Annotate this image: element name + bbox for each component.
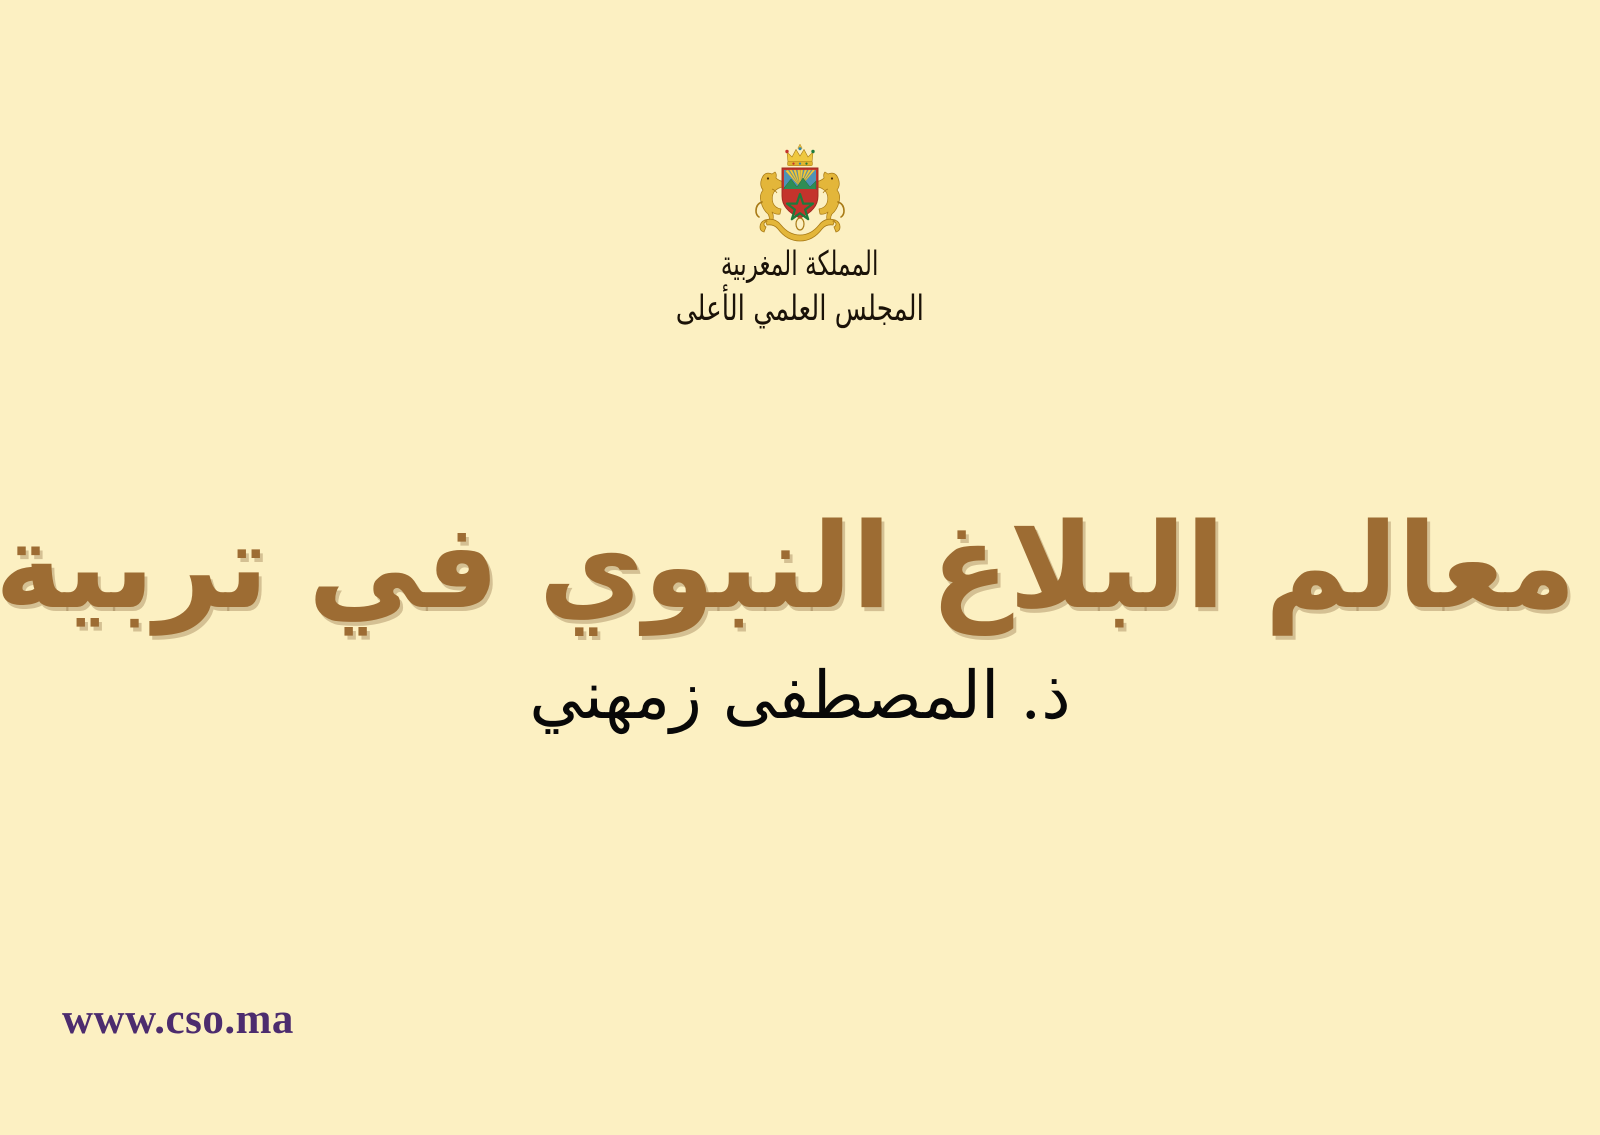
moroccan-coat-of-arms-icon	[741, 140, 859, 245]
page-title: معالم البلاغ النبوي في تربية الشباب	[24, 493, 1576, 641]
website-url[interactable]: www.cso.ma	[62, 998, 294, 1041]
cover-page: { "page": { "background_color": "#FCF0C2…	[0, 0, 1600, 1135]
crown-icon	[785, 144, 814, 166]
lion-left-icon	[756, 172, 785, 221]
kingdom-label: المملكة المغربية	[721, 248, 879, 282]
shield-icon	[782, 168, 818, 219]
ribbon-banner-icon	[760, 218, 840, 241]
author-name: ذ. المصطفى زمهني	[0, 655, 1600, 738]
council-label: المجلس العلمي الأعلى	[676, 291, 924, 326]
emblem-block: المملكة المغربية المجلس العلمي الأعلى	[0, 140, 1600, 323]
lion-right-icon	[815, 172, 844, 221]
